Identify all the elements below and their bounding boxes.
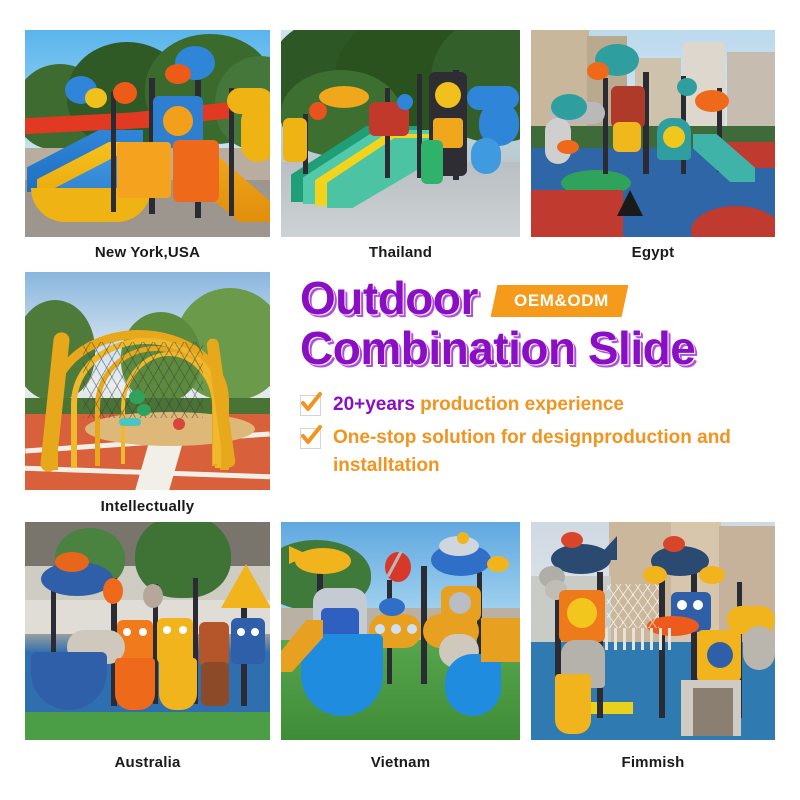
- playground-photo-fimmish: [531, 522, 775, 740]
- caption-vietnam: Vietnam: [281, 754, 520, 771]
- caption-australia: Australia: [25, 754, 270, 771]
- caption-intellectually: Intellectually: [25, 498, 270, 515]
- feature-bullet-2: One-stop solution for designproduction a…: [300, 424, 790, 479]
- playground-photo-usa: [25, 30, 270, 237]
- poster-canvas: New York,USA: [0, 0, 800, 800]
- photo-tile-egypt[interactable]: [531, 30, 775, 237]
- title-line-1: Outdoor: [300, 275, 478, 323]
- caption-fimmish: Fimmish: [531, 754, 775, 771]
- check-icon: [300, 395, 321, 416]
- playground-photo-intellectually: [25, 272, 270, 490]
- photo-tile-intellectually[interactable]: [25, 272, 270, 490]
- photo-tile-fimmish[interactable]: [531, 522, 775, 740]
- check-icon: [300, 428, 321, 449]
- title-row-one: Outdoor OEM&ODM: [300, 275, 790, 323]
- caption-egypt: Egypt: [531, 244, 775, 261]
- photo-tile-australia[interactable]: [25, 522, 270, 740]
- oem-odm-badge: OEM&ODM: [491, 285, 629, 317]
- caption-thailand: Thailand: [281, 244, 520, 261]
- playground-photo-vietnam: [281, 522, 520, 740]
- hero-text-block: Outdoor OEM&ODM Combination Slide 20+yea…: [300, 275, 790, 505]
- playground-photo-egypt: [531, 30, 775, 237]
- photo-tile-new-york-usa[interactable]: [25, 30, 270, 237]
- feature-bullet-1-highlight: 20+years: [333, 394, 415, 415]
- feature-bullet-1-rest: production experience: [415, 394, 624, 415]
- feature-bullet-2-text: One-stop solution for designproduction a…: [333, 424, 753, 479]
- feature-bullet-list: 20+years production experience One-stop …: [300, 391, 790, 480]
- photo-tile-vietnam[interactable]: [281, 522, 520, 740]
- playground-photo-australia: [25, 522, 270, 740]
- feature-bullet-1: 20+years production experience: [300, 391, 790, 419]
- caption-new-york-usa: New York,USA: [25, 244, 270, 261]
- title-line-2: Combination Slide: [300, 325, 790, 373]
- playground-photo-thailand: [281, 30, 520, 237]
- oem-odm-badge-label: OEM&ODM: [514, 291, 609, 311]
- feature-bullet-1-text: 20+years production experience: [333, 391, 624, 419]
- photo-tile-thailand[interactable]: [281, 30, 520, 237]
